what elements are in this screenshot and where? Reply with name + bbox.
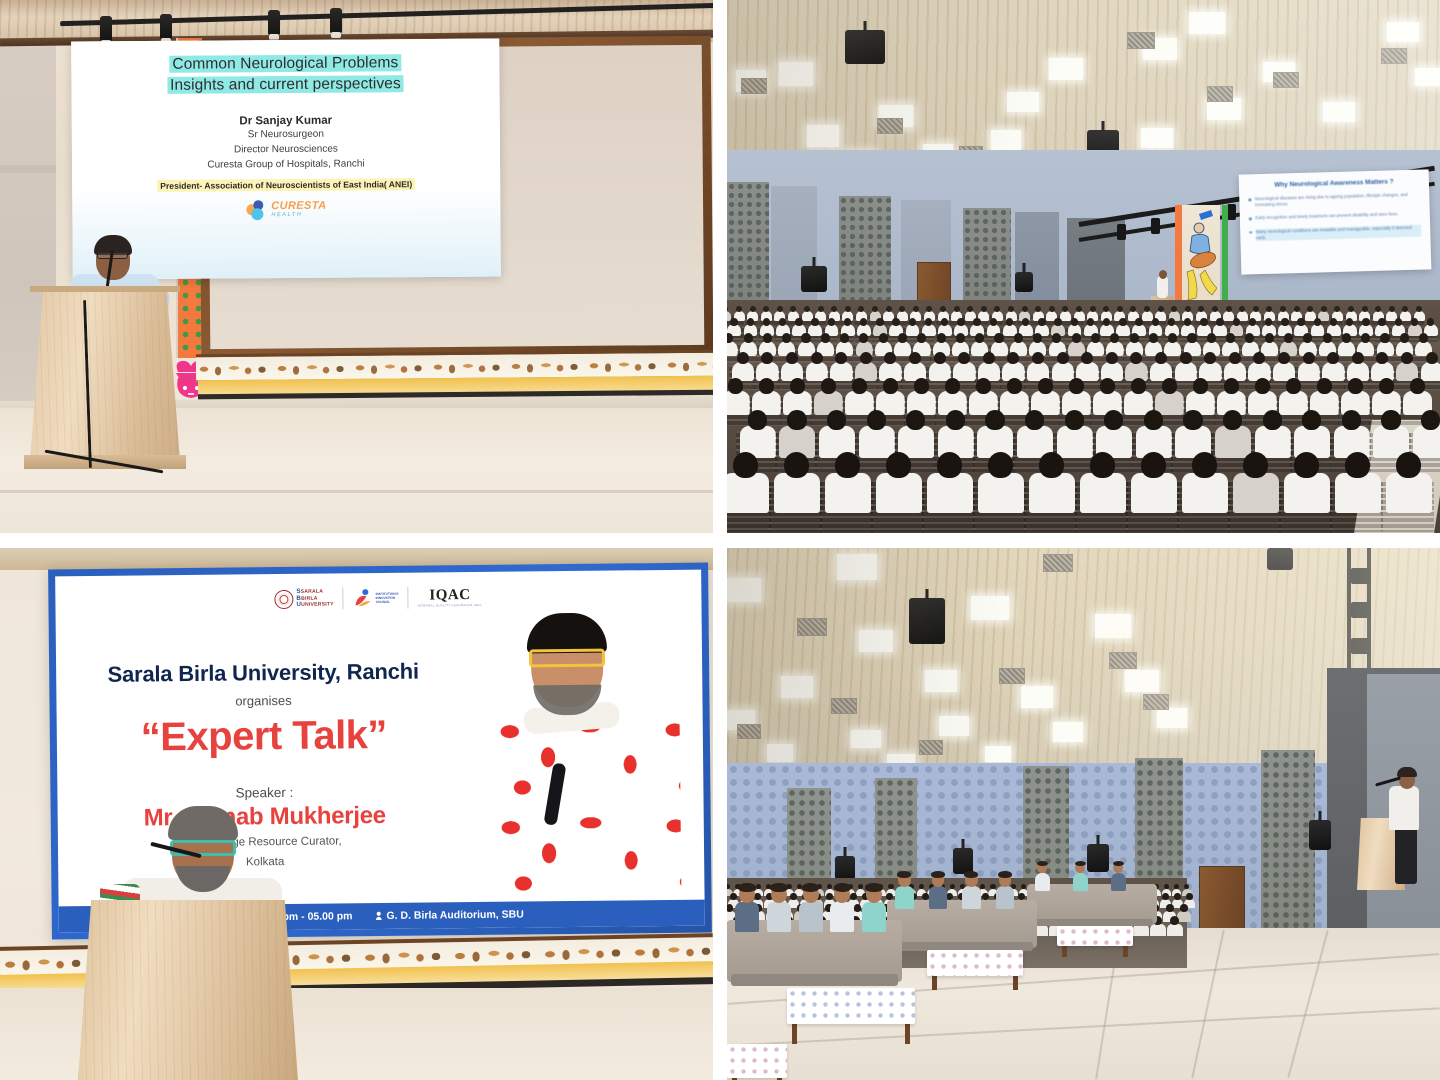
logo-birla: BIRLA xyxy=(301,595,318,601)
audience-member-head xyxy=(1223,410,1242,430)
audience-member-torso xyxy=(1335,473,1381,513)
audience-member-head xyxy=(1025,410,1044,430)
audience-member-head xyxy=(1378,318,1385,326)
audience-member-head xyxy=(1200,318,1207,326)
dignitary-torso xyxy=(895,886,914,909)
audience-member-torso xyxy=(859,426,895,457)
slide3-event-title: “Expert Talk” xyxy=(99,712,429,760)
dignitary-hair xyxy=(834,883,852,892)
audience-member-head xyxy=(892,318,899,326)
audience-member-torso xyxy=(1150,924,1166,937)
audience-member-head xyxy=(1104,410,1123,430)
speaker-hair xyxy=(527,613,607,654)
audience-member-head xyxy=(828,318,835,326)
sofa-seat xyxy=(731,974,898,986)
audience-member-head xyxy=(790,893,796,900)
audience-member-head xyxy=(957,318,964,326)
audience-member-head xyxy=(1342,410,1361,430)
audience-member-head xyxy=(1314,318,1321,326)
curesta-logo: CURESTA HEALTH xyxy=(86,198,486,221)
audience-member-torso xyxy=(894,341,911,356)
dignitary-torso xyxy=(1073,873,1088,892)
slide3-university: Sarala Birla University, Ranchi xyxy=(98,658,428,687)
wall-speaker xyxy=(953,848,973,874)
audience-member-head xyxy=(1065,410,1084,430)
audience-member-head xyxy=(925,318,932,326)
audience-member-head xyxy=(821,333,830,343)
audience-member-head xyxy=(906,410,925,430)
stage-light xyxy=(1117,224,1126,240)
sarala-birla-university-logo: SSARALA BBIRLA UUNIVERSITY xyxy=(274,588,333,609)
audience-member-head xyxy=(1226,333,1235,343)
wall-speaker xyxy=(1309,820,1331,850)
audience-member-head xyxy=(1052,333,1061,343)
audience-member-torso xyxy=(1298,362,1320,381)
audience-member-head xyxy=(1155,352,1167,364)
audience-member-head xyxy=(1008,306,1014,312)
audience-member-head xyxy=(763,318,770,326)
audience-member-head xyxy=(826,893,832,900)
audience-member-head xyxy=(990,318,997,326)
audience-member-head xyxy=(1131,378,1146,394)
audience-member-head xyxy=(879,333,888,343)
audience-member-head xyxy=(1226,306,1232,312)
track-spotlight-icon xyxy=(268,10,280,36)
audience-member-head xyxy=(860,318,867,326)
logo-divider xyxy=(407,587,408,609)
slide3-speaker-photo xyxy=(471,612,689,914)
audience-member-head xyxy=(941,318,948,326)
audience-member-head xyxy=(886,893,892,900)
audience-member-head xyxy=(876,318,883,326)
audience-member-head xyxy=(1362,306,1368,312)
audience-member-head xyxy=(937,333,946,343)
audience-member-head xyxy=(1038,318,1045,326)
audience-member-head xyxy=(1185,306,1191,312)
audience-member-head xyxy=(1022,306,1028,312)
coffee-table xyxy=(787,988,915,1024)
audience-member-head xyxy=(1233,318,1240,326)
slide2-bullet: Early recognition and timely treatment c… xyxy=(1255,212,1398,222)
projected-slide-title: Common Neurological Problems Insights an… xyxy=(71,39,501,280)
audience-member-torso xyxy=(1000,391,1028,415)
audience-member-head xyxy=(1421,410,1440,430)
audience-member-head xyxy=(1263,410,1282,430)
audience-member-head xyxy=(922,893,928,900)
audience-member-head xyxy=(859,333,868,343)
institutions-innovation-council-logo: INSTITUTION'S INNOVATION COUNCIL xyxy=(353,588,399,608)
coffee-table xyxy=(727,1044,787,1078)
audience-member-head xyxy=(1294,306,1300,312)
podium-top xyxy=(30,286,180,292)
audience-member-head xyxy=(1389,306,1395,312)
audience-member-head xyxy=(736,306,742,312)
audience-member-head xyxy=(1281,318,1288,326)
audience-member-head xyxy=(1170,916,1179,925)
audience-member-head xyxy=(1419,333,1428,343)
dignitary-torso xyxy=(830,902,854,932)
track-spotlight-icon xyxy=(330,8,342,34)
projected-slide-awareness: Why Neurological Awareness Matters ? Neu… xyxy=(1239,169,1432,274)
slide3-speaker-label: Speaker : xyxy=(99,783,429,801)
university-seal-icon xyxy=(274,589,293,608)
audience-member-head xyxy=(1380,333,1389,343)
audience-member-head xyxy=(797,884,802,889)
audience-member-head xyxy=(1072,333,1081,343)
audience-member-head xyxy=(818,306,824,312)
audience-member-torso xyxy=(845,391,873,415)
slide2-bullet: Neurological diseases are rising due to … xyxy=(1255,192,1421,209)
dignitary-torso xyxy=(799,902,823,932)
audience-member-head xyxy=(1284,333,1293,343)
audience-member-head xyxy=(988,452,1013,478)
dignitary-torso xyxy=(929,886,948,909)
dignitary-hair xyxy=(897,871,911,878)
audience-member-head xyxy=(801,333,810,343)
speaker-glasses-icon xyxy=(529,649,605,668)
wall-speaker xyxy=(801,266,827,292)
audience-member-head xyxy=(1039,452,1064,478)
audience-member-head xyxy=(1106,352,1118,364)
audience-member-head xyxy=(1076,306,1082,312)
audience-member-head xyxy=(1345,452,1370,478)
coffee-table xyxy=(1057,926,1133,946)
audience-member-head xyxy=(854,904,861,912)
slide-president-line: President- Association of Neuroscientist… xyxy=(157,178,415,192)
audience-member-head xyxy=(886,306,892,312)
audience-member-head xyxy=(1245,333,1254,343)
slide-heading-line2: Insights and current perspectives xyxy=(167,75,404,94)
audience-member-head xyxy=(1411,318,1418,326)
audience-member-head xyxy=(1297,318,1304,326)
audience-member-torso xyxy=(727,391,750,415)
audience-member-head xyxy=(937,452,962,478)
audience-member-head xyxy=(1427,318,1434,326)
audience-member-head xyxy=(747,318,754,326)
audience-member-torso xyxy=(830,362,852,381)
audience-member-head xyxy=(985,410,1004,430)
audience-member-head xyxy=(1141,452,1166,478)
coffee-table xyxy=(927,950,1023,976)
audience-member-head xyxy=(779,318,786,326)
audience-member-head xyxy=(1395,318,1402,326)
audience-member-head xyxy=(888,884,893,889)
audience-member-head xyxy=(1249,318,1256,326)
iqac-tagline: INTERNAL QUALITY ASSURANCE CELL xyxy=(418,602,483,607)
dignitary-hair xyxy=(802,883,820,892)
audience-member-head xyxy=(1342,333,1351,343)
table-cloth xyxy=(927,950,1023,976)
audience-member-head xyxy=(1216,318,1223,326)
audience-member-head xyxy=(835,452,860,478)
audience-member-head xyxy=(811,352,823,364)
audience-member-head xyxy=(1265,333,1274,343)
audience-member-head xyxy=(898,333,907,343)
audience-member-torso xyxy=(1052,362,1074,381)
audience-member-head xyxy=(1187,333,1196,343)
audience-member-head xyxy=(1071,318,1078,326)
audience-member-head xyxy=(946,410,965,430)
speaker-head xyxy=(1159,270,1167,279)
stage-light xyxy=(1151,218,1160,234)
table-cloth xyxy=(1057,926,1133,946)
audience-member-head xyxy=(1119,318,1126,326)
audience-member-torso xyxy=(1131,473,1177,513)
audience-member-head xyxy=(1253,306,1259,312)
audience-member-head xyxy=(821,378,836,394)
audience-member-head xyxy=(1144,410,1163,430)
audience-member-head xyxy=(1100,378,1115,394)
logo-university: UNIVERSITY xyxy=(301,602,334,608)
audience-member-head xyxy=(804,306,810,312)
audience-member-head xyxy=(1265,318,1272,326)
audience-member-head xyxy=(1007,378,1022,394)
audience-member-head xyxy=(886,452,911,478)
audience-member-head xyxy=(1192,452,1217,478)
audience-member-head xyxy=(883,378,898,394)
dignitary-hair xyxy=(964,871,978,878)
audience-member-head xyxy=(1410,378,1425,394)
audience-member-head xyxy=(1303,352,1315,364)
audience-member-head xyxy=(1091,333,1100,343)
dignitary-torso xyxy=(862,902,886,932)
audience-member-head xyxy=(981,306,987,312)
audience-member-head xyxy=(860,352,872,364)
audience-member-torso xyxy=(1029,473,1075,513)
audience-member-head xyxy=(1057,352,1069,364)
audience-member-head xyxy=(811,318,818,326)
audience-member-head xyxy=(956,333,965,343)
iic-mark-icon xyxy=(353,588,373,608)
audience-member-torso xyxy=(1142,311,1153,321)
slide-heading-line1: Common Neurological Problems xyxy=(169,54,401,73)
audience-member-head xyxy=(867,410,886,430)
audience-member-head xyxy=(737,352,749,364)
audience-member-head xyxy=(763,333,772,343)
audience-member-torso xyxy=(1413,426,1440,457)
audience-member-head xyxy=(1168,333,1177,343)
photo-panel-top-left: Common Neurological Problems Insights an… xyxy=(0,0,713,533)
audience-member-head xyxy=(917,333,926,343)
audience-member-head xyxy=(1103,318,1110,326)
audience-member-head xyxy=(1162,893,1168,900)
audience-member-head xyxy=(844,318,851,326)
audience-member-head xyxy=(730,893,736,900)
photo-collage: Common Neurological Problems Insights an… xyxy=(0,0,1440,1080)
audience-member-head xyxy=(1426,352,1438,364)
audience-member-head xyxy=(786,352,798,364)
audience-member-head xyxy=(975,333,984,343)
audience-member-head xyxy=(872,306,878,312)
audience-member-head xyxy=(754,893,760,900)
audience-member-head xyxy=(1212,306,1218,312)
audience-member-head xyxy=(733,452,758,478)
slide3-logo-row: SSARALA BBIRLA UUNIVERSITY xyxy=(274,586,482,610)
audience-member-head xyxy=(1135,318,1142,326)
audience-member-head xyxy=(934,352,946,364)
location-pin-icon xyxy=(374,911,382,921)
track-spotlight-icon xyxy=(160,14,172,40)
audience-member-head xyxy=(784,452,809,478)
audience-member-head xyxy=(982,893,988,900)
audience-member-head xyxy=(850,893,856,900)
table-cloth xyxy=(727,1044,787,1078)
slide3-speaker-name: Mr. Pranab Mukherjee xyxy=(100,801,430,832)
audience-member-head xyxy=(1255,378,1270,394)
audience-member-head xyxy=(1321,306,1327,312)
audience-member-torso xyxy=(1421,362,1440,381)
audience-member-head xyxy=(750,306,756,312)
audience-member-head xyxy=(1183,410,1202,430)
dignitary-hair xyxy=(998,871,1012,878)
audience-member-torso xyxy=(1215,426,1251,457)
audience-member-torso xyxy=(1167,924,1183,937)
audience-member-torso xyxy=(1233,473,1279,513)
audience-member-head xyxy=(1174,893,1180,900)
audience-member-head xyxy=(782,333,791,343)
audience-member-head xyxy=(790,378,805,394)
audience-member-head xyxy=(1294,452,1319,478)
table-leg xyxy=(905,1024,910,1044)
audience-member-head xyxy=(1166,904,1173,912)
slide3-speaker-role2: Kolkata xyxy=(100,852,430,872)
curesta-logo-name: CURESTA xyxy=(271,201,326,212)
audience-member-torso xyxy=(876,473,922,513)
table-leg xyxy=(1013,976,1018,990)
audience-member-head xyxy=(852,378,867,394)
photo-panel-top-right: Why Neurological Awareness Matters ? Neu… xyxy=(727,0,1440,533)
audience-member-head xyxy=(1379,378,1394,394)
audience-member-head xyxy=(1346,318,1353,326)
audience-member-head xyxy=(1018,893,1024,900)
slide3-speaker-role1: Knowledge Resource Curator, xyxy=(100,832,430,852)
audience-member-head xyxy=(1352,352,1364,364)
audience-member-head xyxy=(1022,318,1029,326)
audience-member-head xyxy=(730,318,737,326)
table-leg xyxy=(792,1024,797,1044)
audience-member-head xyxy=(1229,352,1241,364)
audience-member-head xyxy=(973,318,980,326)
audience-member-head xyxy=(1193,378,1208,394)
audience-member-head xyxy=(1144,306,1150,312)
audience-member-head xyxy=(1033,333,1042,343)
floor-seam xyxy=(0,490,713,493)
audience-member-head xyxy=(1361,333,1370,343)
audience-member-head xyxy=(1416,306,1422,312)
iqac-logo: IQAC INTERNAL QUALITY ASSURANCE CELL xyxy=(417,587,482,607)
slide3-venue: G. D. Birla Auditorium, SBU xyxy=(374,909,523,923)
table-leg xyxy=(1062,946,1067,957)
side-wall-seam xyxy=(0,165,56,173)
wall-speaker xyxy=(835,856,855,880)
audience-member-head xyxy=(1348,378,1363,394)
audience-member-torso xyxy=(1182,473,1228,513)
audience-member-head xyxy=(759,378,774,394)
audience-member-head xyxy=(840,333,849,343)
curesta-cross-icon xyxy=(246,200,268,220)
audience-member-head xyxy=(1348,306,1354,312)
dignitary-hair xyxy=(738,883,756,892)
audience-member-head xyxy=(945,378,960,394)
audience-member-head xyxy=(1117,306,1123,312)
slide2-bullet: Many neurological conditions are treatab… xyxy=(1256,224,1422,241)
speaker-trousers xyxy=(1395,826,1417,884)
audience-member-head xyxy=(1162,378,1177,394)
audience-member-torso xyxy=(927,473,973,513)
slide-role-line3: Curesta Group of Hospitals, Ranchi xyxy=(86,155,486,173)
audience-member-torso xyxy=(808,324,822,336)
table-leg xyxy=(1123,946,1128,957)
audience-member-head xyxy=(1054,318,1061,326)
auditorium-door xyxy=(1199,866,1245,936)
podium-wood-grain xyxy=(30,288,180,460)
audience-member-head xyxy=(1152,318,1159,326)
audience-member-head xyxy=(1038,378,1053,394)
audience-member-head xyxy=(1400,333,1409,343)
dignitary-torso xyxy=(767,902,791,932)
audience-member-head xyxy=(1278,352,1290,364)
audience-member-head xyxy=(1032,352,1044,364)
logo-divider xyxy=(343,587,344,609)
audience-member-head xyxy=(845,306,851,312)
audience-member-head xyxy=(827,410,846,430)
dignitary-hair xyxy=(865,883,883,892)
table-cloth xyxy=(787,988,915,1024)
audience-member-head xyxy=(1396,452,1421,478)
acoustic-panel xyxy=(1261,750,1315,930)
audience-member-head xyxy=(787,410,806,430)
audience-member-torso xyxy=(727,473,769,513)
audience-member-head xyxy=(940,306,946,312)
audience-member-head xyxy=(1049,306,1055,312)
dignitary-hair xyxy=(931,871,945,878)
audience-member-torso xyxy=(1279,391,1307,415)
audience-member-head xyxy=(1090,306,1096,312)
audience-member-head xyxy=(1087,318,1094,326)
curesta-logo-tagline: HEALTH xyxy=(271,213,326,219)
audience-member-torso xyxy=(1213,324,1227,336)
audience-member-head xyxy=(950,884,955,889)
audience-member-head xyxy=(909,352,921,364)
audience-member-head xyxy=(1184,318,1191,326)
dignitary-torso xyxy=(996,886,1015,909)
audience-member-head xyxy=(1130,333,1139,343)
dignitary-torso xyxy=(1111,873,1126,892)
audience-member-head xyxy=(1168,318,1175,326)
audience-member-head xyxy=(795,318,802,326)
audience-member-head xyxy=(748,410,767,430)
dignitary-torso xyxy=(735,902,759,932)
audience-member-head xyxy=(1110,333,1119,343)
audience-member-head xyxy=(1362,318,1369,326)
wall-speaker xyxy=(1087,844,1109,872)
table-leg xyxy=(932,976,937,990)
wall-speaker xyxy=(1015,272,1033,292)
audience-member-head xyxy=(1303,333,1312,343)
audience-member-head xyxy=(976,378,991,394)
audience-member-torso xyxy=(825,473,871,513)
audience-member-head xyxy=(1207,333,1216,343)
speaker-torso xyxy=(1157,276,1168,298)
audience-member-head xyxy=(1302,410,1321,430)
audience-member-head xyxy=(954,306,960,312)
logo-sarala: SARALA xyxy=(301,589,323,595)
dignitary-hair xyxy=(770,883,788,892)
audience-member-head xyxy=(1180,904,1187,912)
audience-member-head xyxy=(1069,378,1084,394)
podium-wood-grain xyxy=(78,900,298,1080)
audience-member-head xyxy=(909,318,916,326)
